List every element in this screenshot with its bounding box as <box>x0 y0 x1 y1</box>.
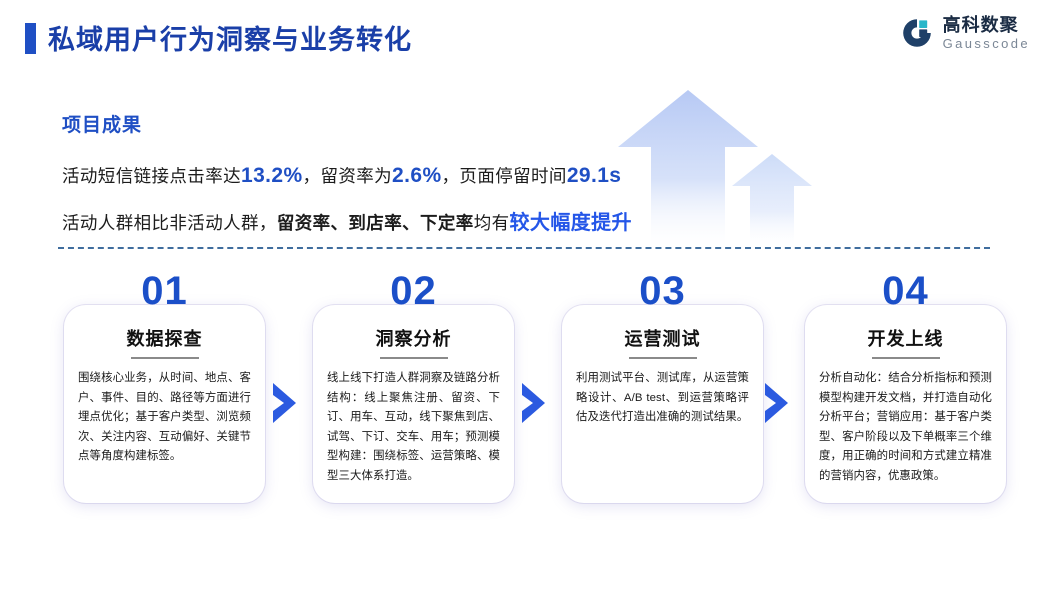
dwell-time-value: 29.1s <box>567 164 622 187</box>
ctr-value: 13.2% <box>241 164 303 187</box>
step-number-01: 01 <box>64 269 265 314</box>
results-line-1: 活动短信链接点击率达13.2%，留资率为2.6%，页面停留时间29.1s <box>62 163 762 188</box>
step-rule-02 <box>380 357 448 359</box>
step-title-03: 运营测试 <box>562 325 763 351</box>
step-card-03[interactable]: 03 运营测试 利用测试平台、测试库，从运营策略设计、A/B test、到运营策… <box>562 305 763 503</box>
step-rule-01 <box>131 357 199 359</box>
results-uplift-highlight: 较大幅度提升 <box>510 212 632 234</box>
step-rule-03 <box>629 357 697 359</box>
step-title-02: 洞察分析 <box>313 325 514 351</box>
step-card-02[interactable]: 02 洞察分析 线上线下打造人群洞察及链路分析结构：线上聚焦注册、留资、下订、用… <box>313 305 514 503</box>
results-line1-seg1: 活动短信链接点击率达 <box>62 166 241 186</box>
step-rule-04 <box>872 357 940 359</box>
step-number-02: 02 <box>313 269 514 314</box>
step-body-02: 线上线下打造人群洞察及链路分析结构：线上聚焦注册、留资、下订、用车、互动，线下聚… <box>327 369 500 487</box>
company-logo: 高科数聚 Gausscode <box>900 16 1030 50</box>
logo-name-en: Gausscode <box>943 37 1030 50</box>
slide-canvas: 私域用户行为洞察与业务转化 高科数聚 Gausscode <box>0 0 1048 591</box>
process-steps: 01 数据探查 围绕核心业务，从时间、地点、客户、事件、目的、路径等方面进行埋点… <box>0 270 1048 530</box>
results-line2-seg1: 活动人群相比非活动人群， <box>62 213 277 233</box>
chevron-right-icon-2 <box>519 382 549 424</box>
title-accent-bar <box>25 23 36 54</box>
step-card-04[interactable]: 04 开发上线 分析自动化：结合分析指标和预测模型构建开发文档，并打造自动化分析… <box>805 305 1006 503</box>
step-title-01: 数据探查 <box>64 325 265 351</box>
step-title-04: 开发上线 <box>805 325 1006 351</box>
lead-rate-value: 2.6% <box>392 164 441 187</box>
results-line1-seg3: ，页面停留时间 <box>442 166 567 186</box>
page-title: 私域用户行为洞察与业务转化 <box>48 18 412 57</box>
project-results-block: 项目成果 活动短信链接点击率达13.2%，留资率为2.6%，页面停留时间29.1… <box>62 110 762 235</box>
chevron-right-icon-1 <box>270 382 300 424</box>
slide-header: 私域用户行为洞察与业务转化 高科数聚 Gausscode <box>0 0 1048 80</box>
results-line-2: 活动人群相比非活动人群，留资率、到店率、下定率均有较大幅度提升 <box>62 206 762 235</box>
logo-name-cn: 高科数聚 <box>943 16 1030 34</box>
step-body-03: 利用测试平台、测试库，从运营策略设计、A/B test、到运营策略评估及迭代打造… <box>576 369 749 428</box>
results-line2-seg2: 均有 <box>474 213 510 233</box>
step-body-04: 分析自动化：结合分析指标和预测模型构建开发文档，并打造自动化分析平台；营销应用：… <box>819 369 992 487</box>
section-divider <box>58 247 990 249</box>
logo-wordmark: 高科数聚 Gausscode <box>943 16 1030 50</box>
step-number-04: 04 <box>805 269 1006 314</box>
step-number-03: 03 <box>562 269 763 314</box>
step-body-01: 围绕核心业务，从时间、地点、客户、事件、目的、路径等方面进行埋点优化；基于客户类… <box>78 369 251 467</box>
chevron-right-icon-3 <box>762 382 792 424</box>
results-heading: 项目成果 <box>62 110 762 137</box>
results-line1-seg2: ，留资率为 <box>303 166 393 186</box>
gausscode-logo-mark-icon <box>900 16 934 50</box>
step-card-01[interactable]: 01 数据探查 围绕核心业务，从时间、地点、客户、事件、目的、路径等方面进行埋点… <box>64 305 265 503</box>
results-metrics-emphasis: 留资率、到店率、下定率 <box>277 213 474 233</box>
